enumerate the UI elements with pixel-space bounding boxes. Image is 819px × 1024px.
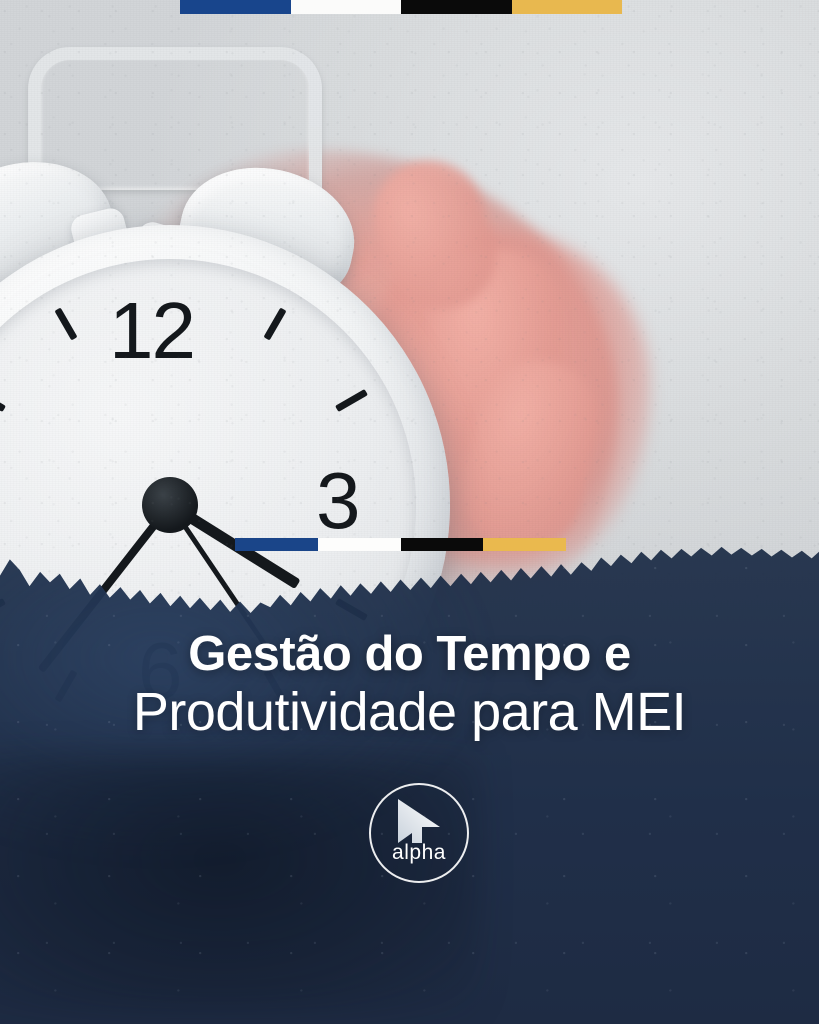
- social-post-canvas: 12 3 9 6: [0, 0, 819, 1024]
- title-line-1: Gestão do Tempo e: [0, 625, 819, 683]
- color-swatch-black: [401, 538, 484, 551]
- color-swatch-gold: [483, 538, 566, 551]
- title-line-2: Produtividade para MEI: [0, 681, 819, 743]
- color-swatch-gold: [512, 0, 623, 14]
- mid-brand-color-bar: [235, 538, 566, 551]
- color-swatch-blue: [235, 538, 318, 551]
- color-swatch-black: [401, 0, 512, 14]
- logo-wordmark: alpha: [369, 841, 469, 865]
- color-swatch-blue: [180, 0, 291, 14]
- brand-logo[interactable]: alpha: [369, 783, 469, 883]
- post-title: Gestão do Tempo e Produtividade para MEI: [0, 625, 819, 743]
- color-swatch-white: [291, 0, 402, 14]
- arrow-cursor-icon: [396, 797, 442, 845]
- color-swatch-white: [318, 538, 401, 551]
- top-brand-color-bar: [180, 0, 622, 14]
